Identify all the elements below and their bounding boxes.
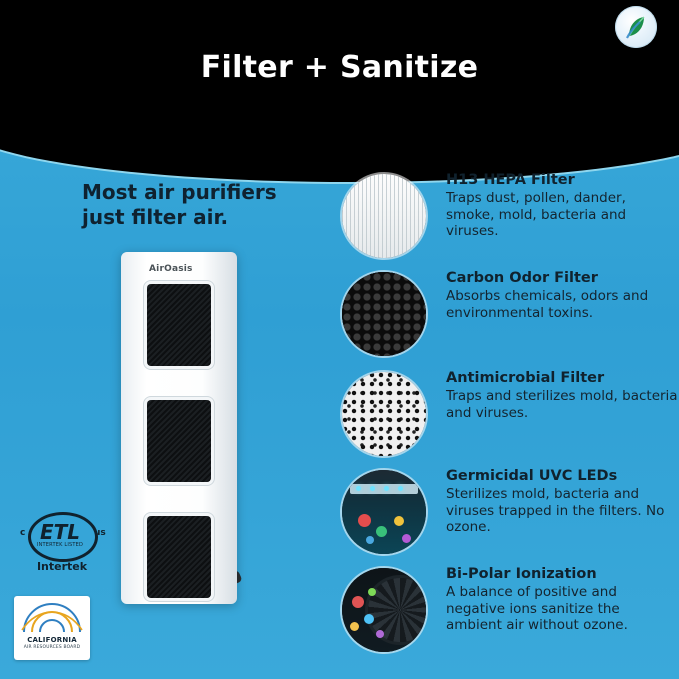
- device-body: AirOasis: [121, 252, 237, 604]
- device-brand-label: AirOasis: [149, 264, 219, 276]
- feature-body: A balance of positive and negative ions …: [446, 584, 678, 633]
- etl-certification-badge: ETL INTERTEK LISTED c us Intertek: [20, 512, 106, 584]
- carb-title: CALIFORNIA: [16, 636, 88, 644]
- etl-c-prefix: c: [20, 528, 25, 538]
- carb-arcs-icon: [20, 600, 84, 634]
- hepa-filter-icon: [342, 174, 426, 258]
- etl-brand-name: Intertek: [24, 560, 100, 573]
- feature-heading: Bi-Polar Ionization: [446, 566, 678, 583]
- carb-subtitle: AIR RESOURCES BOARD: [16, 645, 88, 650]
- etl-mark: ETL: [28, 520, 92, 544]
- feature-body: Sterilizes mold, bacteria and viruses tr…: [446, 486, 678, 535]
- feature-heading: H13 HEPA Filter: [446, 172, 678, 189]
- carb-certification-badge: CALIFORNIA AIR RESOURCES BOARD: [14, 596, 90, 660]
- air-purifier-illustration: AirOasis: [113, 252, 253, 622]
- feature-body: Absorbs chemicals, odors and environment…: [446, 288, 678, 321]
- carbon-honeycomb-icon: [342, 272, 426, 356]
- device-vent-middle: [147, 400, 211, 482]
- uvc-led-icon: [342, 470, 426, 554]
- page-title: Filter + Sanitize: [0, 50, 679, 85]
- etl-small-text: INTERTEK LISTED: [24, 542, 96, 548]
- antimicrobial-mesh-icon: [342, 372, 426, 456]
- etl-us-suffix: us: [94, 528, 106, 538]
- feature-body: Traps dust, pollen, dander, smoke, mold,…: [446, 190, 678, 239]
- poster-canvas: Filter + Sanitize Most air purifiers jus…: [0, 0, 679, 679]
- device-vent-bottom: [147, 516, 211, 598]
- leaf-logo-icon: [626, 15, 646, 39]
- bipolar-ion-fan-icon: [342, 568, 426, 652]
- device-vent-top: [147, 284, 211, 366]
- feature-heading: Germicidal UVC LEDs: [446, 468, 678, 485]
- feature-heading: Carbon Odor Filter: [446, 270, 678, 287]
- feature-body: Traps and sterilizes mold, bacteria and …: [446, 388, 678, 421]
- feature-heading: Antimicrobial Filter: [446, 370, 678, 387]
- left-headline: Most air purifiers just filter air.: [82, 180, 322, 230]
- brand-logo: [615, 6, 657, 48]
